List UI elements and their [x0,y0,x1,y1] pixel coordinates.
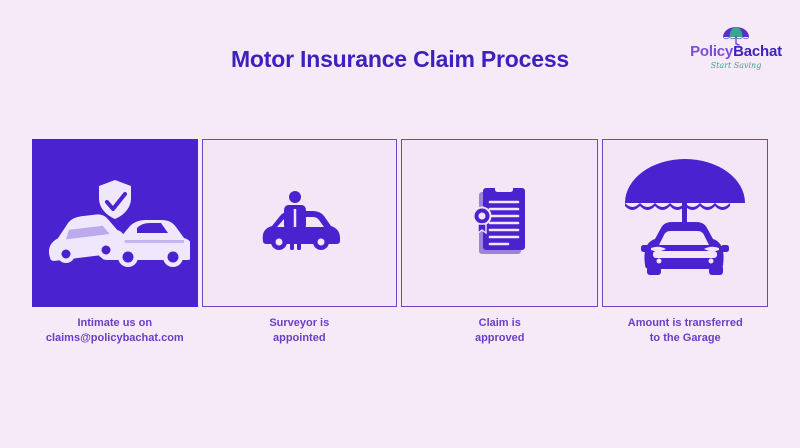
umbrella-logo-icon [721,26,751,46]
step-caption-3: Claim is approved [401,316,598,346]
page-title: Motor Insurance Claim Process [0,46,800,73]
step-caption-1-line1: Intimate us on [32,316,198,331]
step-caption-4-line2: to the Garage [602,331,768,346]
step-panel-2[interactable] [202,139,397,307]
step-caption-3-line1: Claim is [401,316,598,331]
process-steps-strip [32,139,768,307]
step-caption-2-line2: appointed [202,331,397,346]
step-panel-3[interactable] [401,139,598,307]
step-caption-1-line2: claims@policybachat.com [32,331,198,346]
step-captions: Intimate us on claims@policybachat.com S… [32,316,768,346]
step-caption-4: Amount is transferred to the Garage [602,316,768,346]
step-panel-4[interactable] [602,139,768,307]
car-under-umbrella-icon [617,153,753,293]
step-caption-2: Surveyor is appointed [202,316,397,346]
step-caption-4-line1: Amount is transferred [602,316,768,331]
collision-cars-shield-icon [40,158,190,288]
step-caption-1: Intimate us on claims@policybachat.com [32,316,198,346]
step-caption-3-line2: approved [401,331,598,346]
approved-document-icon [471,186,529,260]
step-caption-2-line1: Surveyor is [202,316,397,331]
step-panel-1[interactable] [32,139,198,307]
surveyor-with-car-icon [251,187,347,259]
